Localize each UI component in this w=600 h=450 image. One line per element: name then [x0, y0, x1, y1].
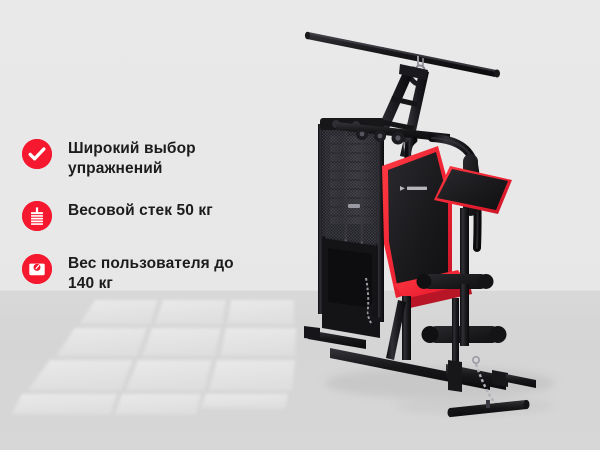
feature-label: Вес пользователя до 140 кг	[68, 253, 234, 293]
weight-stack-icon	[22, 201, 52, 231]
home-gym-machine	[300, 8, 600, 442]
weight-stack-column	[318, 118, 384, 322]
feature-label: Широкий выбор упражнений	[68, 138, 196, 178]
product-banner: Широкий выбор упражнений Весовой стек 50…	[0, 0, 600, 450]
feature-item: Вес пользователя до 140 кг	[22, 253, 272, 293]
body-scale-icon	[22, 254, 52, 284]
feature-item: Широкий выбор упражнений	[22, 138, 272, 178]
feature-label: Весовой стек 50 кг	[68, 200, 213, 221]
feature-list: Широкий выбор упражнений Весовой стек 50…	[22, 138, 272, 293]
feature-item: Весовой стек 50 кг	[22, 200, 272, 231]
leg-developer	[417, 274, 507, 368]
check-circle-icon	[22, 139, 52, 169]
